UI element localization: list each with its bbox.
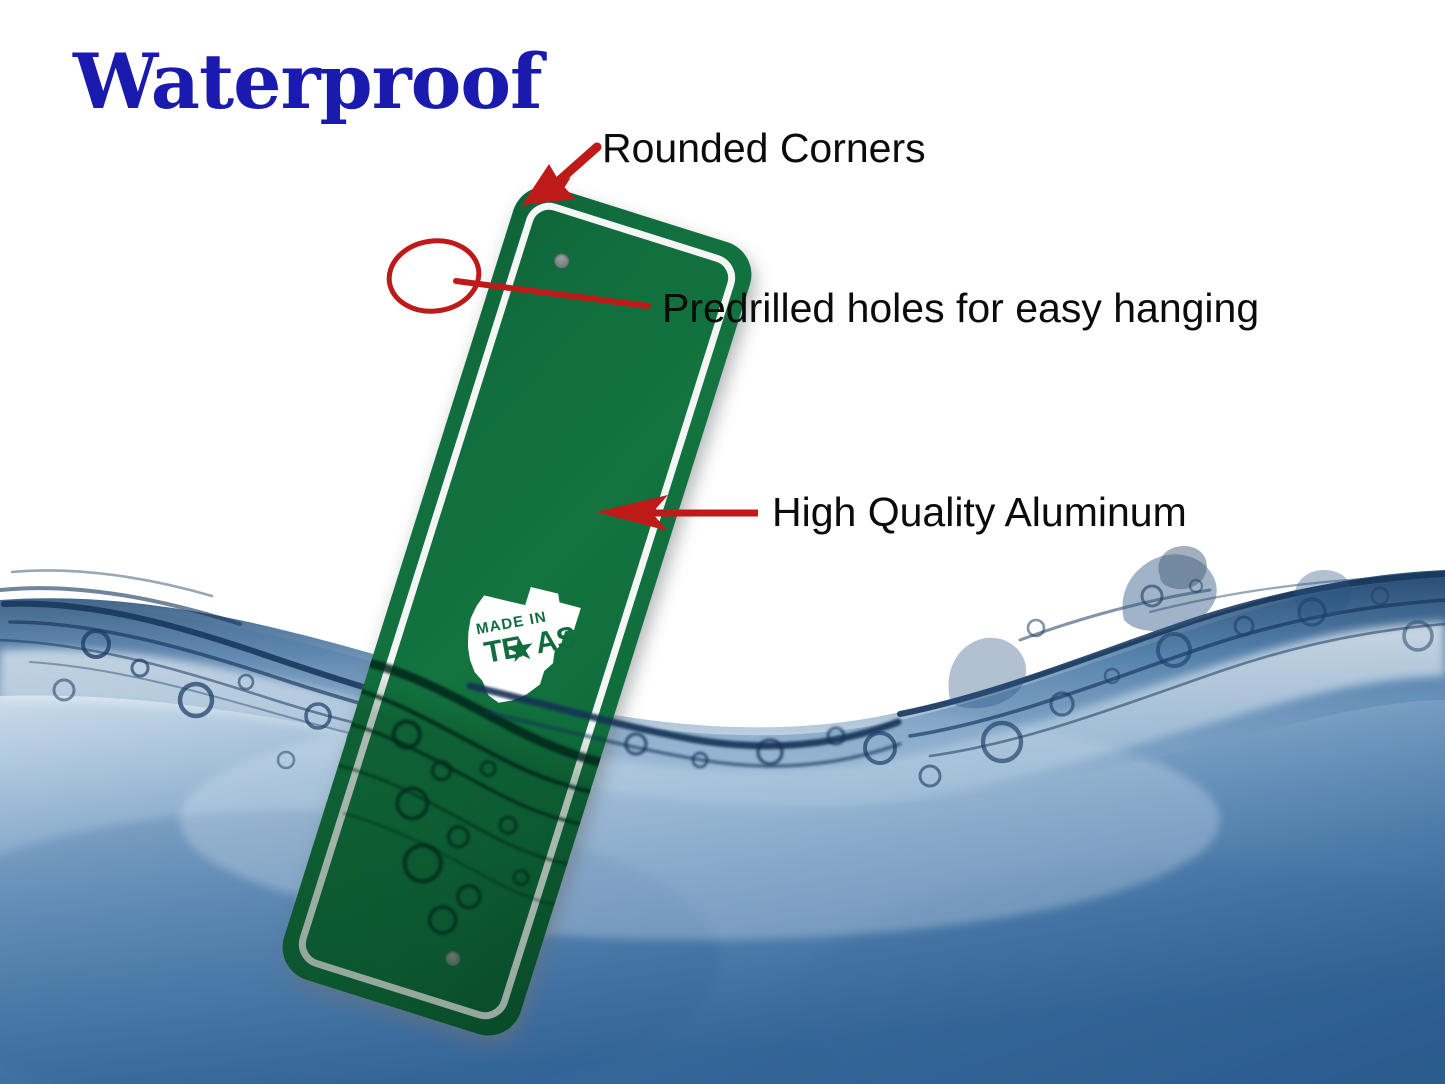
page-title: Waterproof — [73, 44, 542, 120]
water-body — [0, 540, 1445, 1084]
water-foam — [0, 622, 1445, 808]
water-splash-strands-right — [900, 574, 1445, 756]
water-surface-band — [0, 570, 1445, 806]
annotation-label-high-quality-aluminum: High Quality Aluminum — [772, 489, 1187, 536]
water-bubbles — [54, 580, 1432, 786]
badge-line2-after: AS — [533, 621, 579, 661]
annotation-label-rounded-corners: Rounded Corners — [602, 125, 926, 172]
water-crests — [948, 546, 1351, 708]
predrilled-holes-ellipse-icon — [385, 235, 484, 317]
annotation-label-predrilled-holes: Predrilled holes for easy hanging — [662, 285, 1259, 332]
infographic-canvas: MADE IN TE ★ AS — [0, 0, 1445, 1084]
